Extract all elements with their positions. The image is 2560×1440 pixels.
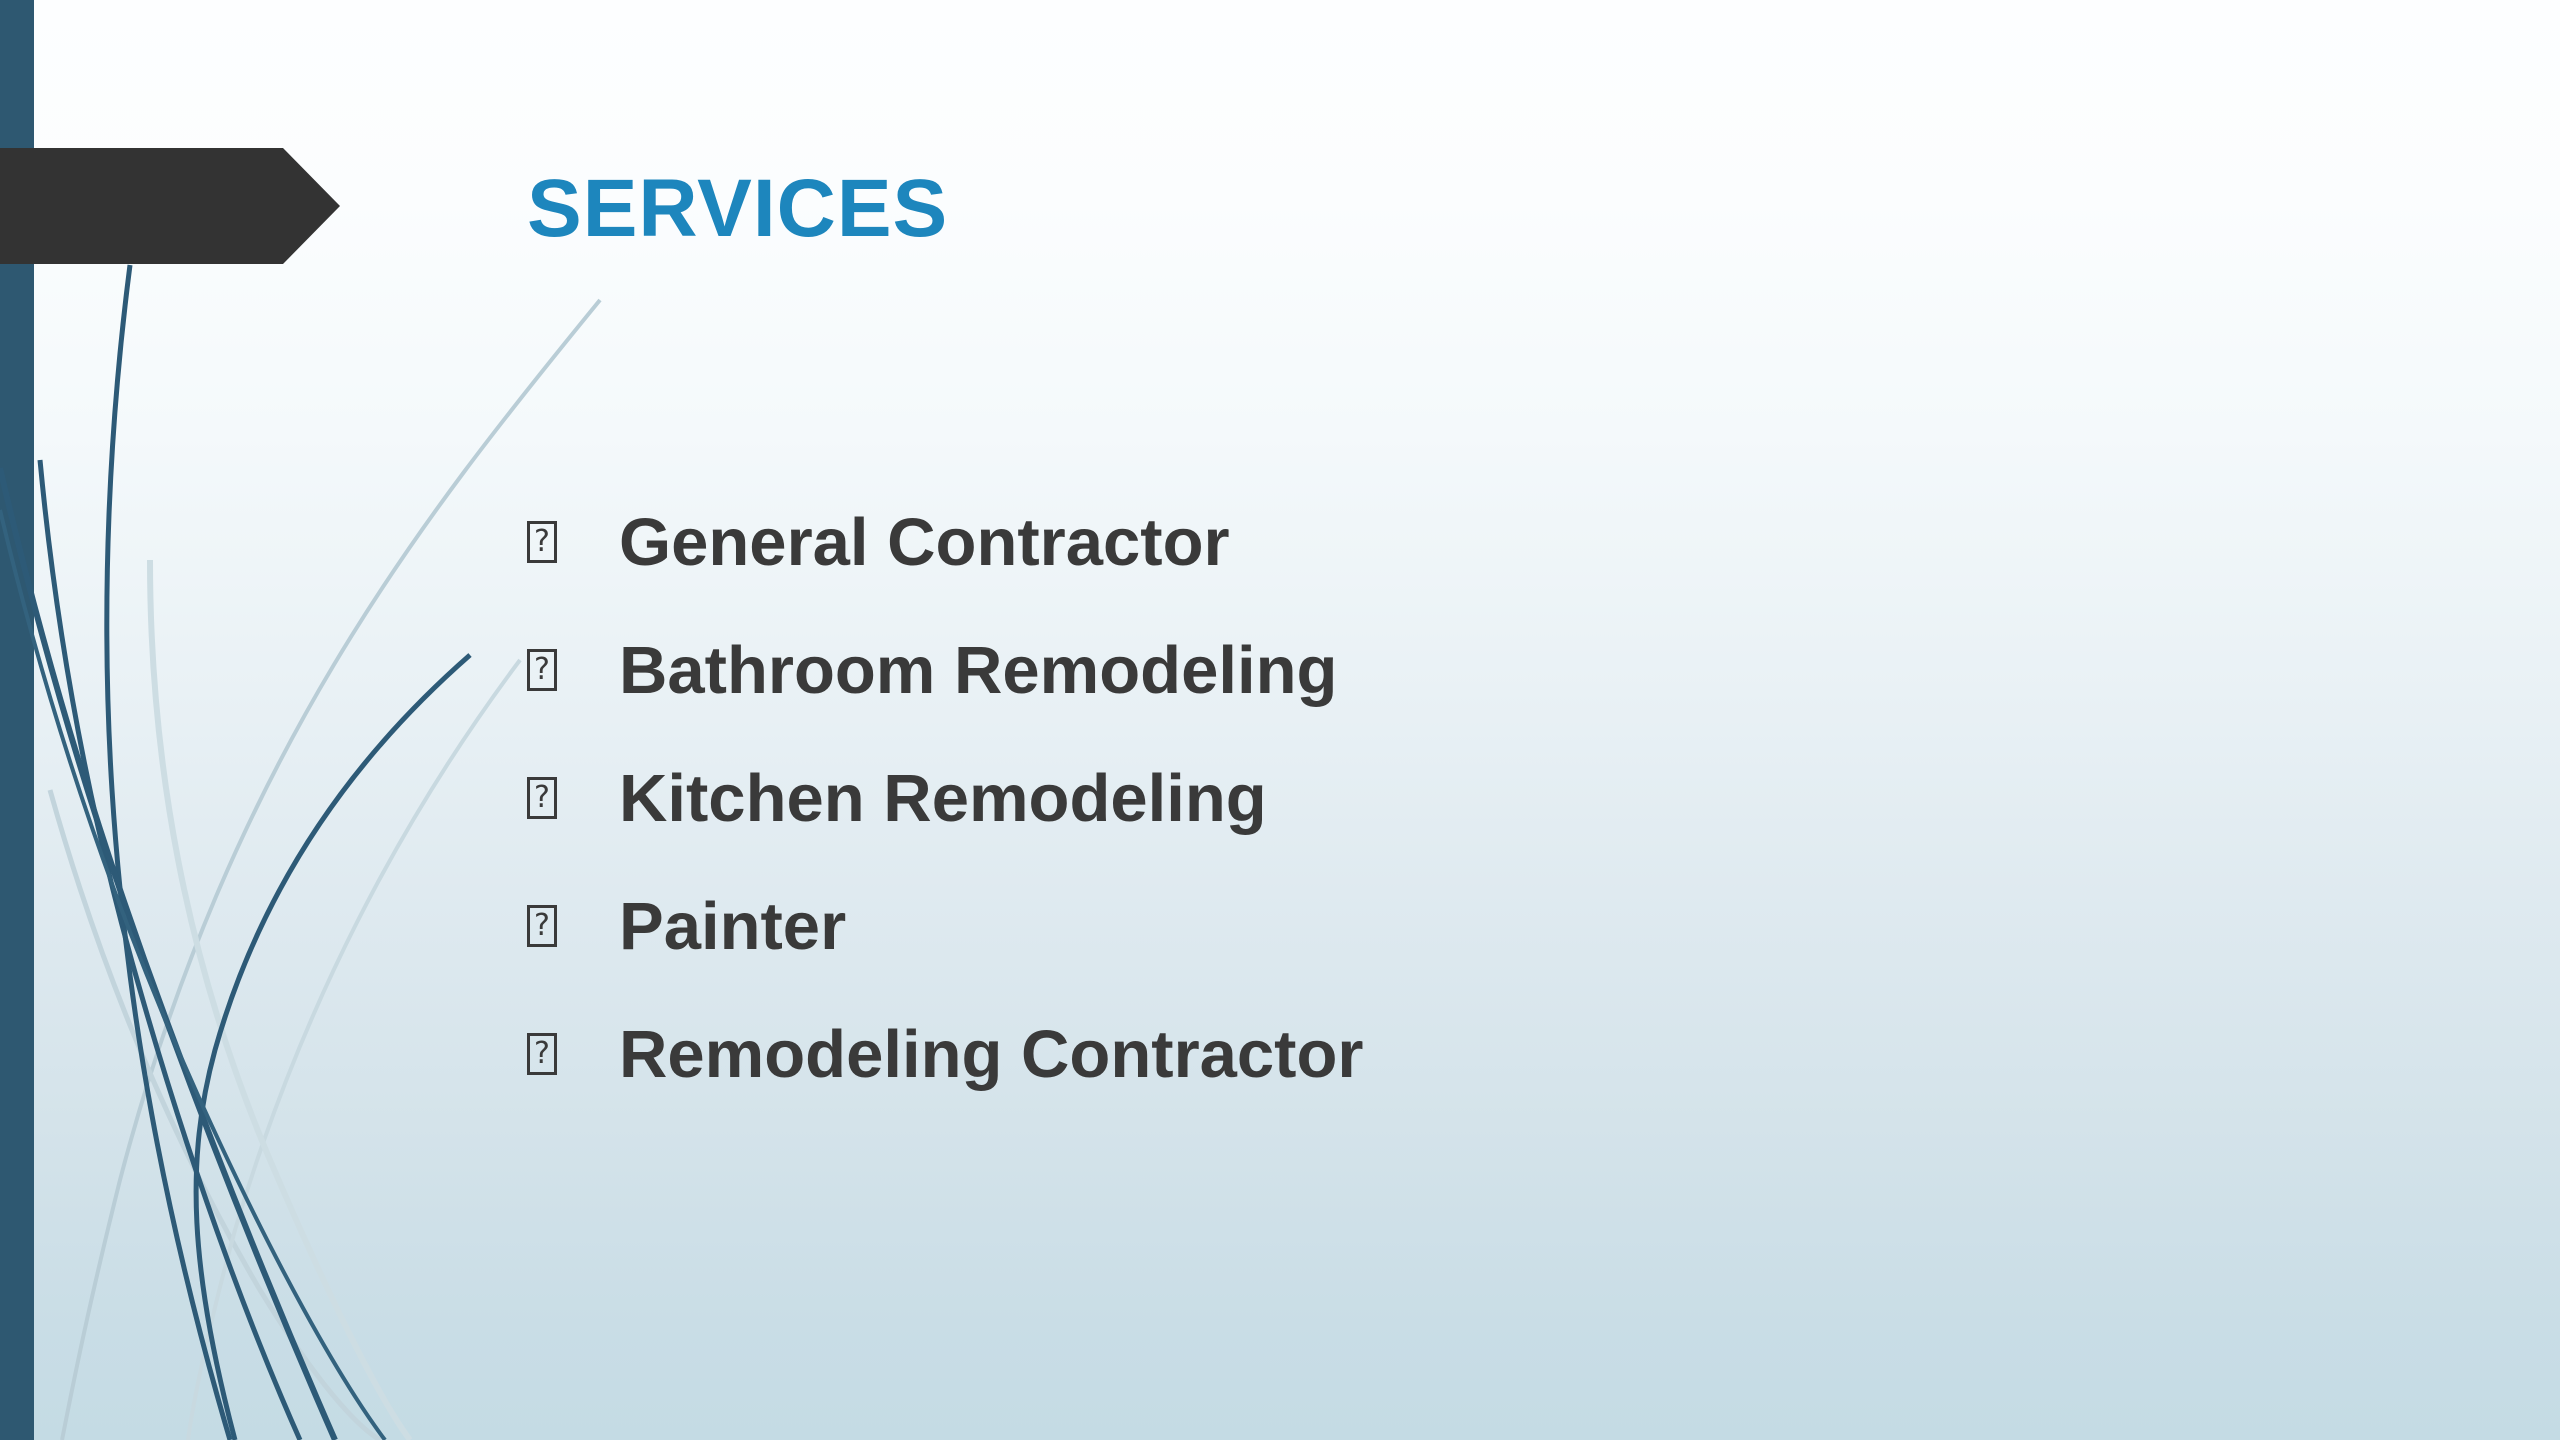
slide-title: SERVICES: [527, 168, 948, 250]
list-item: ? Remodeling Contractor: [527, 990, 2227, 1118]
stem-dark-3: [0, 468, 335, 1440]
missing-glyph-bullet-icon: ?: [527, 649, 557, 691]
stem-light-2: [50, 790, 380, 1440]
list-item-label: Painter: [619, 893, 846, 960]
list-item: ? Kitchen Remodeling: [527, 734, 2227, 862]
list-item-label: General Contractor: [619, 509, 1230, 576]
stem-light-1: [62, 300, 600, 1440]
services-bullet-list: ? General Contractor ? Bathroom Remodeli…: [527, 478, 2227, 1118]
missing-glyph-bullet-icon: ?: [527, 777, 557, 819]
chevron-banner: [0, 148, 340, 264]
list-item: ? Bathroom Remodeling: [527, 606, 2227, 734]
missing-glyph-bullet-icon: ?: [527, 521, 557, 563]
missing-glyph-bullet-icon: ?: [527, 905, 557, 947]
list-item-label: Bathroom Remodeling: [619, 637, 1337, 704]
stem-dark-5: [0, 510, 385, 1440]
missing-glyph-bullet-icon: ?: [527, 1033, 557, 1075]
stem-dark-4: [196, 655, 470, 1440]
list-item: ? General Contractor: [527, 478, 2227, 606]
list-item: ? Painter: [527, 862, 2227, 990]
stem-light-3: [188, 660, 520, 1440]
stem-light-4: [150, 560, 410, 1440]
list-item-label: Kitchen Remodeling: [619, 765, 1267, 832]
presentation-slide: SERVICES ? General Contractor ? Bathroom…: [0, 0, 2560, 1440]
stem-dark-2: [40, 460, 300, 1440]
stem-dark-1: [107, 265, 230, 1440]
list-item-label: Remodeling Contractor: [619, 1021, 1364, 1088]
